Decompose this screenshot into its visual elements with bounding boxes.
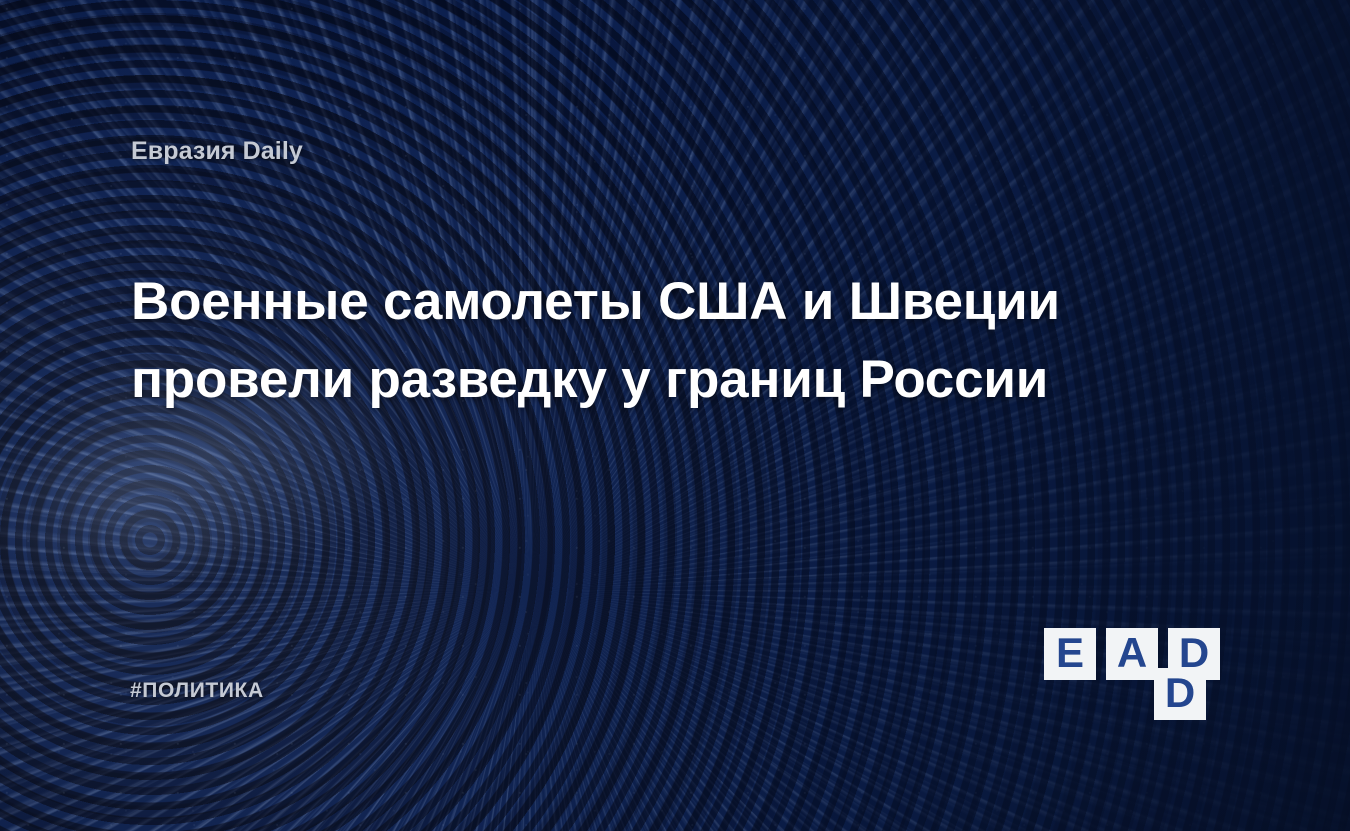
logo-tile-d-lower-icon: D (1154, 668, 1206, 720)
topic-hashtag[interactable]: #ПОЛИТИКА (130, 679, 264, 703)
logo-letter-d-lower: D (1165, 672, 1195, 714)
headline-line-2: провели разведку у границ России (131, 341, 1111, 419)
logo-letter-a: A (1117, 632, 1147, 674)
card-content: Евразия Daily Военные самолеты США и Шве… (0, 0, 1350, 831)
eadaily-logo[interactable]: E A D D (1044, 628, 1224, 720)
headline-line-1: Военные самолеты США и Швеции (131, 263, 1111, 341)
headline: Военные самолеты США и Швеции провели ра… (131, 263, 1111, 419)
brand-name: Евразия Daily (131, 137, 303, 166)
logo-tile-a-icon: A (1106, 628, 1158, 680)
logo-tile-e-icon: E (1044, 628, 1096, 680)
logo-letter-e: E (1056, 632, 1084, 674)
news-social-card: Евразия Daily Военные самолеты США и Шве… (0, 0, 1350, 831)
